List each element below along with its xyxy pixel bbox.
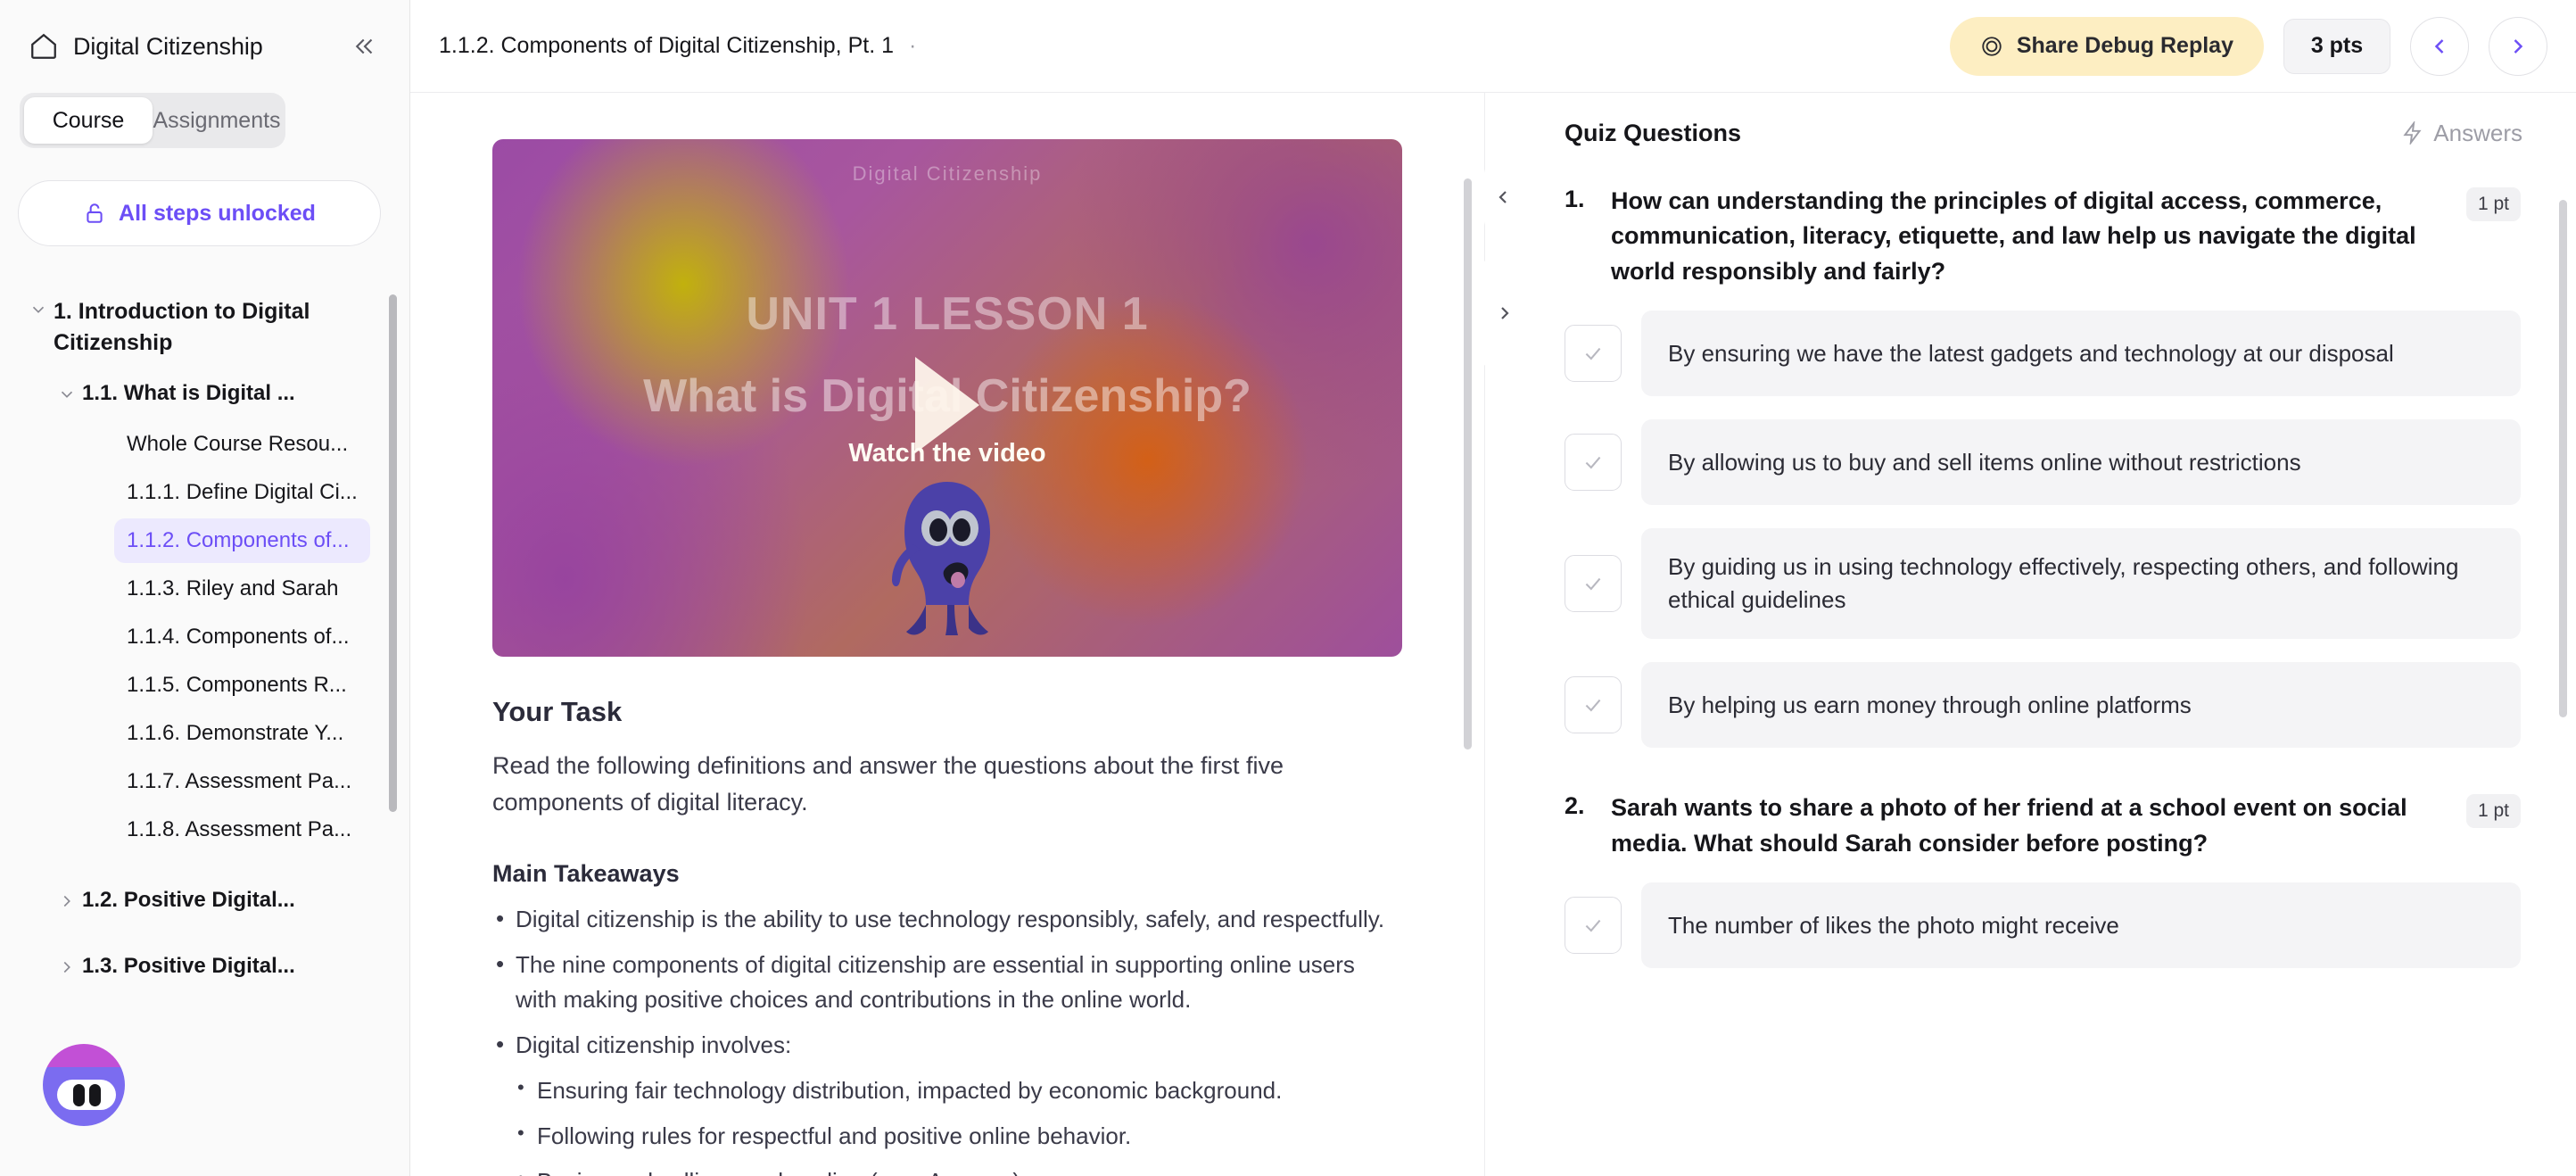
avatar-pupil-left <box>73 1084 85 1106</box>
chevrons-left-icon[interactable] <box>347 29 383 64</box>
tree-node-label: 1. Introduction to Digital Citizenship <box>54 296 348 358</box>
tab-course[interactable]: Course <box>24 97 153 144</box>
collapse-left-handle[interactable] <box>1478 145 1521 250</box>
tree-leaf-1-1-8[interactable]: 1.1.8. Assessment Pa... <box>114 807 370 852</box>
your-task-text: Read the following definitions and answe… <box>492 748 1402 821</box>
home-icon[interactable] <box>29 31 59 62</box>
chevron-right-icon[interactable] <box>52 954 82 977</box>
option-row[interactable]: By allowing us to buy and sell items onl… <box>1565 419 2521 505</box>
breadcrumb-title: 1.1.2. Components of Digital Citizenship… <box>439 33 894 58</box>
question-number: 1. <box>1565 184 1595 213</box>
question-1-options: By ensuring we have the latest gadgets a… <box>1565 311 2521 748</box>
breadcrumb-separator: · <box>909 33 916 58</box>
octopus-character <box>858 446 1036 651</box>
tree-node-label: 1.3. Positive Digital... <box>82 954 295 979</box>
question-2-options: The number of likes the photo might rece… <box>1565 882 2521 968</box>
share-debug-replay-label: Share Debug Replay <box>2017 33 2233 59</box>
pane-divider <box>1484 93 1534 1176</box>
lesson-scrollbar[interactable] <box>1464 178 1472 749</box>
quiz-pane: Quiz Questions Answers 1. How can unders… <box>1534 93 2576 1176</box>
list-item: Ensuring fair technology distribution, i… <box>516 1073 1402 1108</box>
option-checkbox[interactable] <box>1565 434 1622 491</box>
question-1: 1. How can understanding the principles … <box>1565 173 2521 289</box>
tree-leaf-1-1-7[interactable]: 1.1.7. Assessment Pa... <box>114 759 370 804</box>
chevron-down-icon[interactable] <box>23 296 54 319</box>
avatar-pupil-right <box>89 1084 101 1106</box>
tree-node-1-2[interactable]: 1.2. Positive Digital... <box>0 875 393 925</box>
tree-node-1-1[interactable]: 1.1. What is Digital ... <box>0 369 393 418</box>
unlock-label: All steps unlocked <box>119 201 316 227</box>
tree-leaf-1-1-3[interactable]: 1.1.3. Riley and Sarah <box>114 567 370 611</box>
tree-node-unit-1[interactable]: 1. Introduction to Digital Citizenship <box>0 286 393 369</box>
question-text: Sarah wants to share a photo of her frie… <box>1611 791 2438 861</box>
center-body: Digital Citizenship UNIT 1 LESSON 1 What… <box>410 93 2576 1176</box>
option-label[interactable]: By helping us earn money through online … <box>1641 662 2521 748</box>
quiz-title: Quiz Questions <box>1565 120 1741 147</box>
option-label[interactable]: By ensuring we have the latest gadgets a… <box>1641 311 2521 396</box>
tab-assignments[interactable]: Assignments <box>153 97 281 144</box>
all-steps-unlocked-button[interactable]: All steps unlocked <box>18 180 381 246</box>
top-bar: 1.1.2. Components of Digital Citizenship… <box>410 0 2576 93</box>
lightning-bolt-icon <box>2401 121 2424 145</box>
quiz-scrollbar[interactable] <box>2559 200 2567 717</box>
lesson-content: Digital Citizenship UNIT 1 LESSON 1 What… <box>492 139 1402 1176</box>
app-root: Digital Citizenship Course Assignments A… <box>0 0 2576 1176</box>
chevron-down-icon[interactable] <box>52 381 82 404</box>
points-badge[interactable]: 3 pts <box>2283 19 2390 74</box>
option-checkbox[interactable] <box>1565 325 1622 382</box>
takeaways-sublist: Ensuring fair technology distribution, i… <box>516 1073 1402 1176</box>
watch-video-label: Watch the video <box>492 439 1402 468</box>
list-item: The nine components of digital citizensh… <box>492 948 1402 1017</box>
video-brand-label: Digital Citizenship <box>492 162 1402 186</box>
share-debug-replay-button[interactable]: Share Debug Replay <box>1950 17 2264 76</box>
list-item: Digital citizenship involves: Ensuring f… <box>492 1028 1402 1176</box>
your-task-heading: Your Task <box>492 696 1402 728</box>
video-player[interactable]: Digital Citizenship UNIT 1 LESSON 1 What… <box>492 139 1402 657</box>
main-area: 1.1.2. Components of Digital Citizenship… <box>410 0 2576 1176</box>
question-points-badge: 1 pt <box>2466 794 2521 828</box>
breadcrumb: 1.1.2. Components of Digital Citizenship… <box>439 33 1930 59</box>
question-text: How can understanding the principles of … <box>1611 184 2438 289</box>
option-checkbox[interactable] <box>1565 897 1622 954</box>
option-label[interactable]: The number of likes the photo might rece… <box>1641 882 2521 968</box>
avatar[interactable] <box>43 1044 125 1126</box>
tree-leaf-whole-course-resources[interactable]: Whole Course Resou... <box>114 422 370 467</box>
tree-leaf-1-1-5[interactable]: 1.1.5. Components R... <box>114 663 370 708</box>
question-number: 2. <box>1565 791 1595 820</box>
option-label[interactable]: By guiding us in using technology effect… <box>1641 528 2521 639</box>
tree-leaf-1-1-4[interactable]: 1.1.4. Components of... <box>114 615 370 659</box>
list-item: Following rules for respectful and posit… <box>516 1119 1402 1154</box>
tree-node-label: 1.1. What is Digital ... <box>82 381 295 406</box>
course-tree: 1. Introduction to Digital Citizenship 1… <box>0 286 409 1176</box>
question-list: 1. How can understanding the principles … <box>1534 173 2576 968</box>
unlock-icon <box>83 202 106 225</box>
lesson-pane: Digital Citizenship UNIT 1 LESSON 1 What… <box>410 93 1484 1176</box>
question-2: 2. Sarah wants to share a photo of her f… <box>1565 771 2521 861</box>
option-label[interactable]: By allowing us to buy and sell items onl… <box>1641 419 2521 505</box>
tree-leaf-1-1-1[interactable]: 1.1.1. Define Digital Ci... <box>114 470 370 515</box>
record-circle-icon <box>1980 35 2003 58</box>
tree-leaf-1-1-2[interactable]: 1.1.2. Components of... <box>114 518 370 563</box>
sidebar-tabs: Course Assignments <box>20 93 285 148</box>
tree-leaf-1-1-6[interactable]: 1.1.6. Demonstrate Y... <box>114 711 370 756</box>
list-item: Digital citizenship is the ability to us… <box>492 902 1402 937</box>
tree-node-1-3[interactable]: 1.3. Positive Digital... <box>0 941 393 991</box>
quiz-header: Quiz Questions Answers <box>1534 93 2576 173</box>
question-points-badge: 1 pt <box>2466 187 2521 221</box>
video-unit-label: UNIT 1 LESSON 1 <box>492 287 1402 341</box>
option-row[interactable]: By helping us earn money through online … <box>1565 662 2521 748</box>
chevron-right-icon[interactable] <box>52 888 82 911</box>
list-item-label: Digital citizenship involves: <box>516 1031 791 1058</box>
tree-node-label: 1.2. Positive Digital... <box>82 888 295 913</box>
sidebar: Digital Citizenship Course Assignments A… <box>0 0 410 1176</box>
option-checkbox[interactable] <box>1565 555 1622 612</box>
answers-label: Answers <box>2433 120 2522 147</box>
option-row[interactable]: By guiding us in using technology effect… <box>1565 528 2521 639</box>
main-takeaways-heading: Main Takeaways <box>492 860 1402 888</box>
prev-step-button[interactable] <box>2410 17 2469 76</box>
list-item: Buying and selling goods online (e.g., A… <box>516 1164 1402 1176</box>
option-row[interactable]: By ensuring we have the latest gadgets a… <box>1565 311 2521 396</box>
answers-button[interactable]: Answers <box>2401 120 2522 147</box>
next-step-button[interactable] <box>2489 17 2547 76</box>
avatar-eyes <box>57 1080 116 1110</box>
takeaways-list: Digital citizenship is the ability to us… <box>492 902 1402 1176</box>
option-row[interactable]: The number of likes the photo might rece… <box>1565 882 2521 968</box>
option-checkbox[interactable] <box>1565 676 1622 733</box>
collapse-right-handle[interactable] <box>1483 261 1526 366</box>
sidebar-scrollbar[interactable] <box>389 294 397 812</box>
course-title: Digital Citizenship <box>73 33 333 61</box>
sidebar-header: Digital Citizenship <box>0 0 409 93</box>
